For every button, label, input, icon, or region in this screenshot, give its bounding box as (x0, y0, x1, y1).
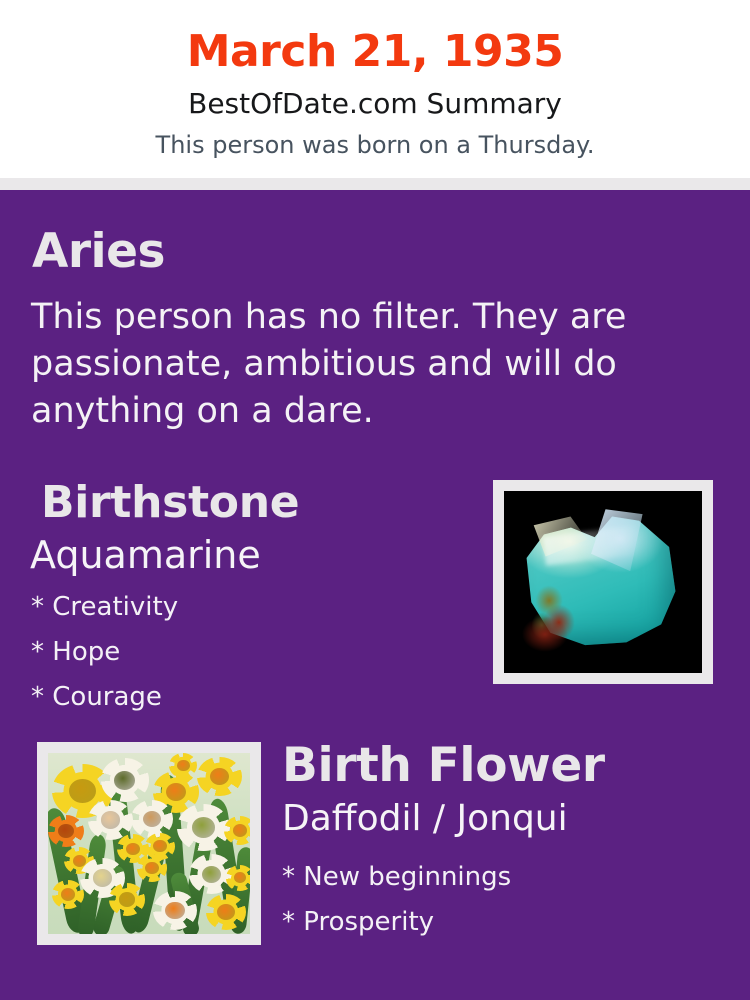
daffodil-bloom-icon (169, 753, 197, 778)
bestofdate-summary-card: March 21, 1935 BestOfDate.com Summary Th… (0, 0, 750, 1000)
birthstone-name: Aquamarine (30, 532, 261, 578)
daffodil-bloom-icon (52, 880, 84, 909)
header-section: March 21, 1935 BestOfDate.com Summary Th… (0, 0, 750, 178)
birthstone-photo (504, 491, 702, 673)
list-item: * Hope (31, 630, 461, 675)
aquamarine-crystal-icon (504, 491, 702, 673)
daffodil-bloom-icon (226, 865, 250, 890)
zodiac-description: This person has no filter. They are pass… (31, 294, 647, 435)
list-item: * Prosperity (282, 900, 722, 945)
daffodil-field-icon (48, 753, 250, 934)
daffodil-bloom-icon (131, 800, 173, 838)
daffodil-bloom-icon (101, 758, 149, 801)
site-summary-label: BestOfDate.com Summary (0, 86, 750, 122)
page-title-date: March 21, 1935 (0, 26, 750, 78)
daffodil-bloom-icon (206, 894, 246, 930)
daffodil-bloom-icon (177, 804, 230, 851)
birth-flower-heading: Birth Flower (282, 736, 605, 796)
daffodil-bloom-icon (88, 800, 132, 840)
header-divider (0, 178, 750, 190)
daffodil-bloom-icon (137, 854, 167, 881)
birth-flower-trait-list: * New beginnings * Prosperity (282, 855, 722, 945)
weekday-statement: This person was born on a Thursday. (0, 129, 750, 161)
birthstone-trait-list: * Creativity * Hope * Courage (31, 585, 461, 720)
birth-flower-name: Daffodil / Jonqui (282, 797, 568, 841)
birth-flower-photo-frame (37, 742, 261, 945)
list-item: * New beginnings (282, 855, 722, 900)
daffodil-bloom-icon (109, 883, 145, 916)
list-item: * Creativity (31, 585, 461, 630)
birth-flower-photo (48, 753, 250, 934)
birthstone-photo-frame (493, 480, 713, 684)
daffodil-bloom-icon (197, 757, 241, 797)
zodiac-sign-heading: Aries (32, 222, 165, 282)
daffodil-bloom-icon (48, 815, 84, 848)
birthstone-heading: Birthstone (41, 475, 299, 531)
list-item: * Courage (31, 675, 461, 720)
